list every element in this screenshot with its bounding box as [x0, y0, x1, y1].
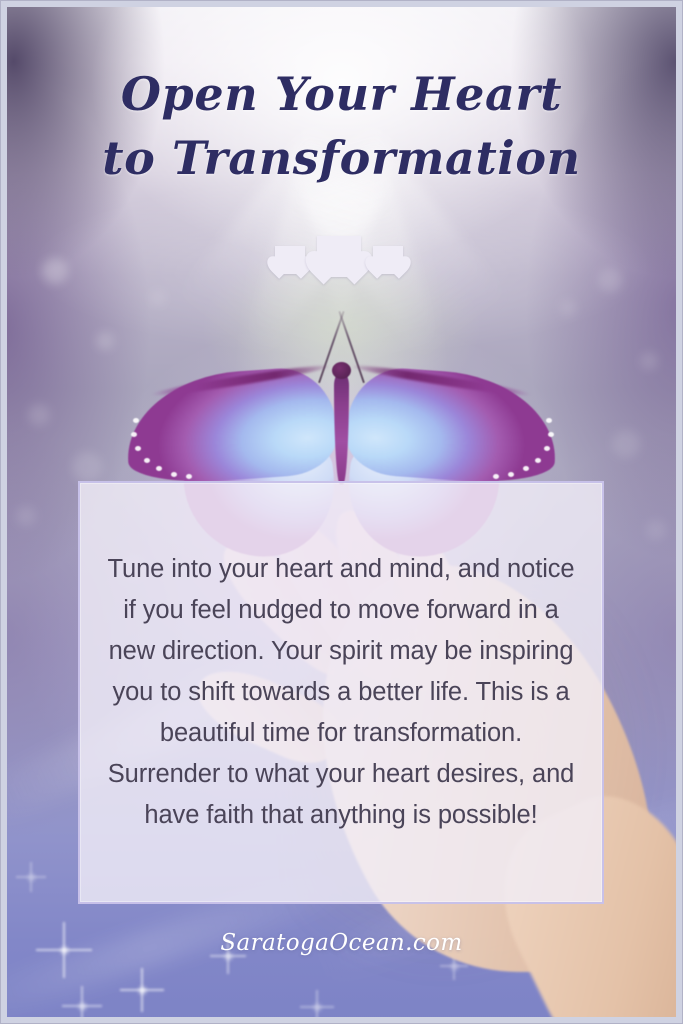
hearts-divider [0, 232, 683, 292]
site-watermark: SaratogaOcean.com [0, 930, 683, 956]
pin-poster: Open Your Heart to Transformation Tune i… [0, 0, 683, 1024]
quote-text: Tune into your heart and mind, and notic… [80, 549, 602, 836]
heart-icon [275, 246, 305, 274]
title-line-1: Open Your Heart [121, 67, 562, 121]
heart-icon [373, 246, 403, 274]
butterfly-head [332, 362, 351, 379]
heart-icon [317, 236, 361, 277]
page-title: Open Your Heart to Transformation [0, 62, 683, 190]
butterfly-body [334, 372, 349, 484]
title-line-2: to Transformation [0, 126, 683, 190]
quote-panel: Tune into your heart and mind, and notic… [78, 481, 604, 904]
